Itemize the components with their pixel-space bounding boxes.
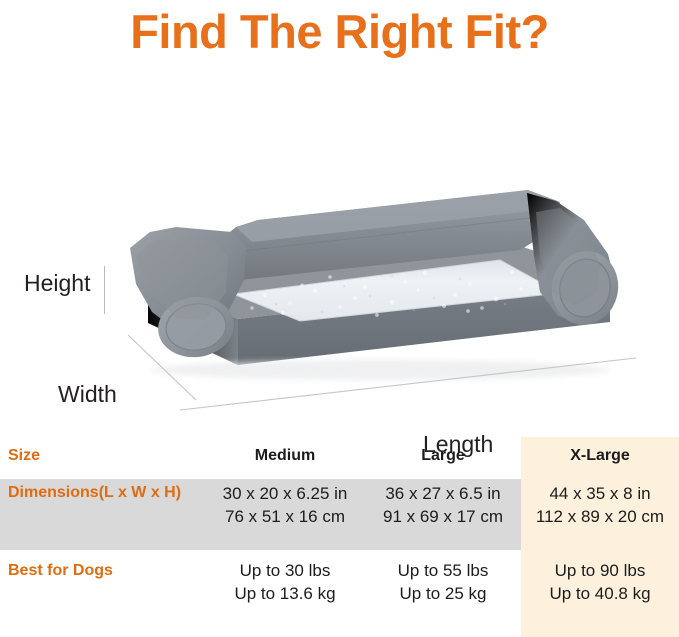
- width-label: Width: [58, 381, 117, 407]
- weight-xlarge-lbs: Up to 90 lbs: [521, 559, 679, 582]
- row-label-dimensions: Dimensions(L x W x H): [8, 482, 181, 503]
- dimensions-medium-cm: 76 x 51 x 16 cm: [205, 505, 365, 528]
- dimensions-medium-in: 30 x 20 x 6.25 in: [205, 482, 365, 505]
- dog-bed-illustration: [0, 80, 679, 420]
- dimensions-xlarge-cm: 112 x 89 x 20 cm: [521, 505, 679, 528]
- weight-medium-lbs: Up to 30 lbs: [205, 559, 365, 582]
- column-header-large: Large: [365, 445, 521, 466]
- cell-dimensions-xlarge: 44 x 35 x 8 in 112 x 89 x 20 cm: [521, 482, 679, 528]
- row-label-size: Size: [8, 445, 40, 466]
- column-header-medium: Medium: [205, 445, 365, 466]
- column-header-xlarge: X-Large: [521, 445, 679, 466]
- size-spec-table: Size Medium Large X-Large Dimensions(L x…: [0, 430, 679, 637]
- cell-dimensions-medium: 30 x 20 x 6.25 in 76 x 51 x 16 cm: [205, 482, 365, 528]
- row-label-best-for-dogs: Best for Dogs: [8, 560, 113, 581]
- xlarge-column-highlight: [521, 437, 679, 637]
- weight-large-lbs: Up to 55 lbs: [365, 559, 521, 582]
- weight-xlarge-kg: Up to 40.8 kg: [521, 582, 679, 605]
- product-image: Height Width Length: [0, 80, 679, 420]
- weight-large-kg: Up to 25 kg: [365, 582, 521, 605]
- dimensions-large-cm: 91 x 69 x 17 cm: [365, 505, 521, 528]
- cell-weight-medium: Up to 30 lbs Up to 13.6 kg: [205, 559, 365, 605]
- page-title: Find The Right Fit?: [0, 2, 679, 62]
- weight-medium-kg: Up to 13.6 kg: [205, 582, 365, 605]
- height-label: Height: [24, 270, 90, 296]
- cell-dimensions-large: 36 x 27 x 6.5 in 91 x 69 x 17 cm: [365, 482, 521, 528]
- dimensions-xlarge-in: 44 x 35 x 8 in: [521, 482, 679, 505]
- dimensions-large-in: 36 x 27 x 6.5 in: [365, 482, 521, 505]
- height-guide-line: [104, 266, 105, 314]
- cell-weight-large: Up to 55 lbs Up to 25 kg: [365, 559, 521, 605]
- cell-weight-xlarge: Up to 90 lbs Up to 40.8 kg: [521, 559, 679, 605]
